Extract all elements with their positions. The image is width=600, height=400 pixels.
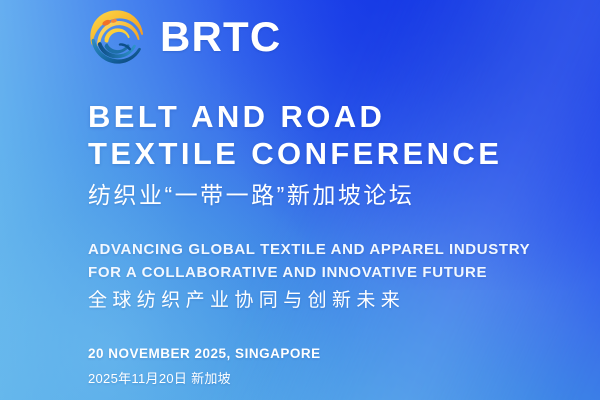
- page-title: BELT AND ROAD TEXTILE CONFERENCE: [88, 98, 502, 172]
- english-tagline-line-2: FOR A COLLABORATIVE AND INNOVATIVE FUTUR…: [88, 261, 530, 284]
- event-date-english: 20 NOVEMBER 2025, SINGAPORE: [88, 344, 321, 363]
- page-title-line-1: BELT AND ROAD: [88, 98, 502, 135]
- event-date-chinese: 2025年11月20日 新加坡: [88, 370, 321, 388]
- english-tagline-line-1: ADVANCING GLOBAL TEXTILE AND APPAREL IND…: [88, 238, 530, 261]
- brtc-circular-wave-logo-icon: [86, 6, 148, 68]
- chinese-tagline: 全球纺织产业协同与创新未来: [88, 289, 405, 313]
- page-title-line-2: TEXTILE CONFERENCE: [88, 135, 502, 172]
- brand-lockup: BRTC: [86, 6, 281, 68]
- chinese-subtitle: 纺织业“一带一路”新加坡论坛: [88, 181, 414, 209]
- english-tagline: ADVANCING GLOBAL TEXTILE AND APPAREL IND…: [88, 238, 530, 284]
- event-date-location: 20 NOVEMBER 2025, SINGAPORE 2025年11月20日 …: [88, 344, 321, 388]
- poster-content: BRTC BELT AND ROAD TEXTILE CONFERENCE 纺织…: [0, 0, 600, 400]
- conference-poster: BRTC BELT AND ROAD TEXTILE CONFERENCE 纺织…: [0, 0, 600, 400]
- logo-gold-core-arc: [105, 28, 130, 42]
- brand-wordmark: BRTC: [160, 16, 281, 58]
